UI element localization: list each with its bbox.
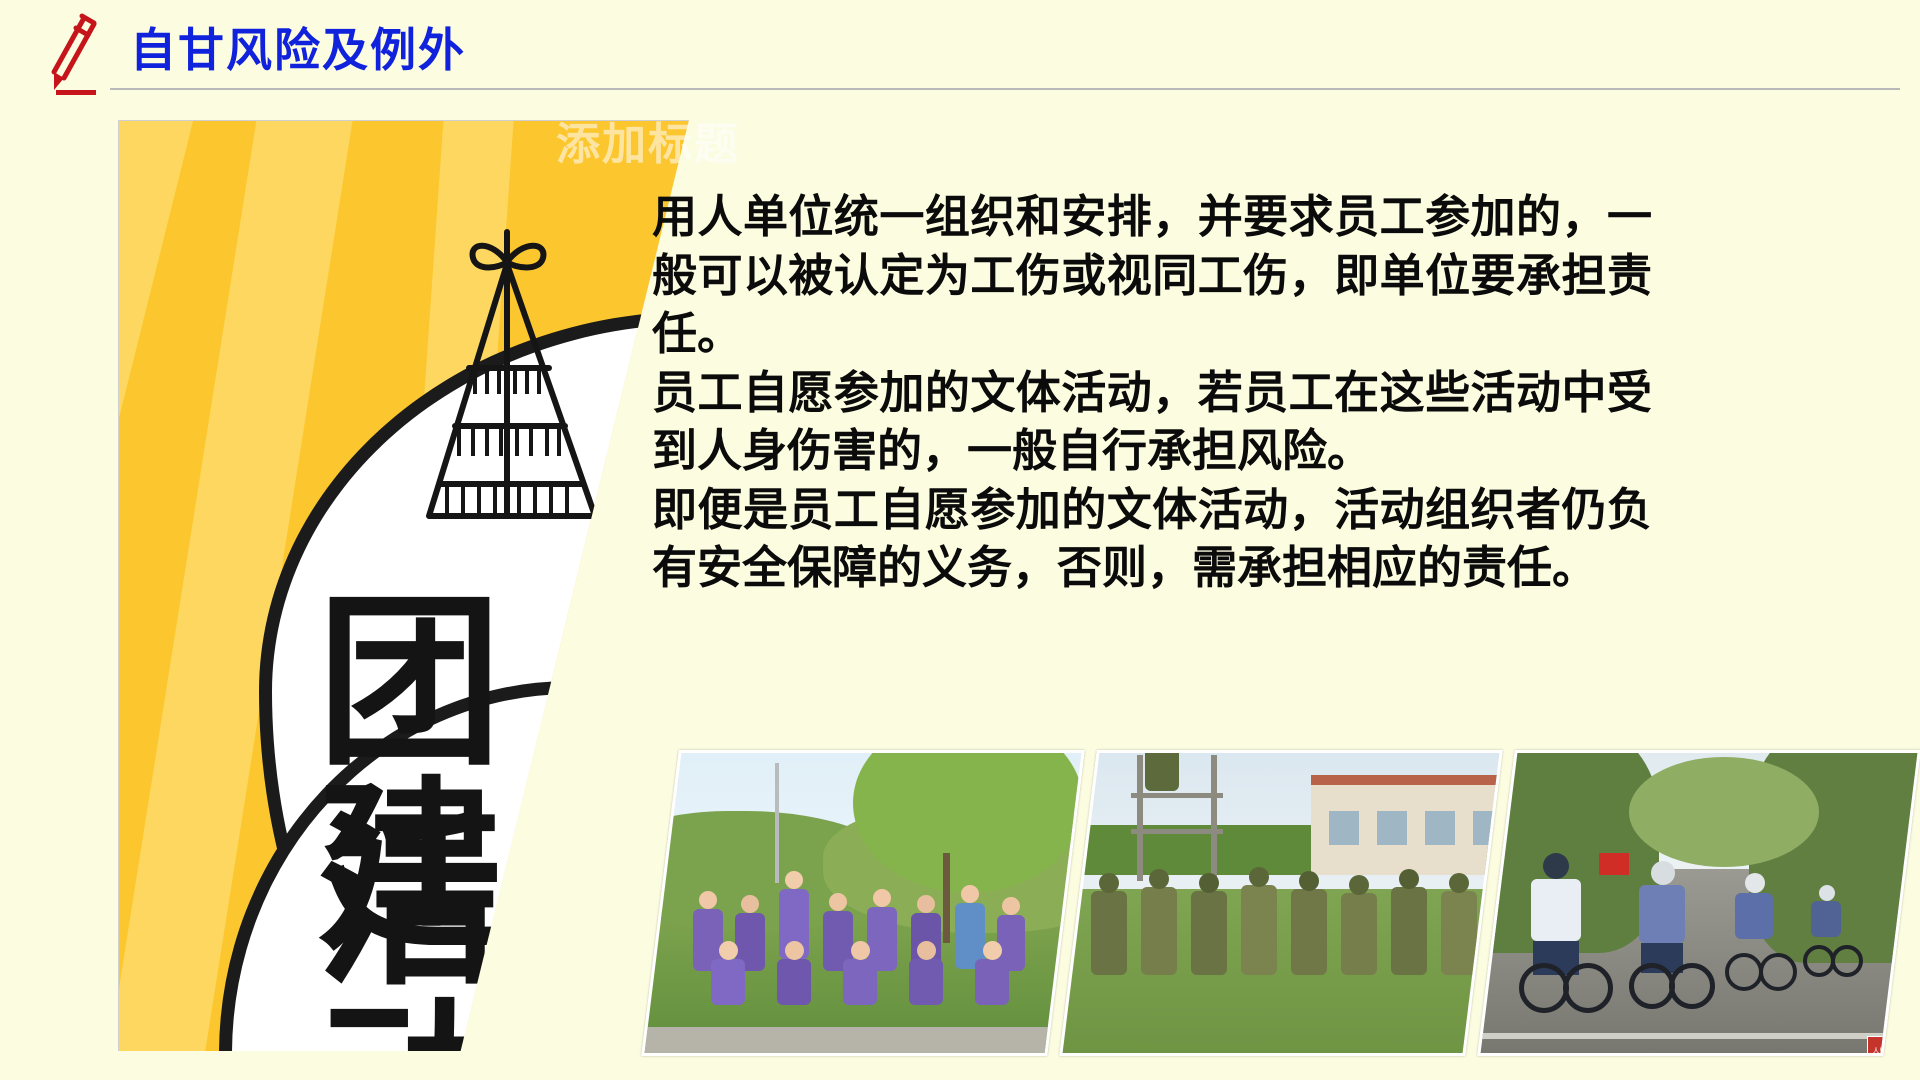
cyclist: [1799, 885, 1859, 971]
cyclist-body: [1639, 885, 1685, 943]
copyright-stamp: 人民日报社: [1867, 1036, 1913, 1056]
body-text-block: 用人单位统一组织和安排，并要求员工参加的，一般可以被认定为工伤或视同工伤，即单位…: [652, 188, 1652, 598]
cyclist: [1621, 861, 1721, 1001]
scaffold-rail: [1131, 793, 1223, 798]
soldier-row: [1091, 873, 1503, 983]
person-head: [785, 871, 803, 889]
tent-icon: [399, 216, 619, 546]
photo-content: [643, 750, 1083, 1056]
body-paragraph: 员工自愿参加的文体活动，若员工在这些活动中受到人身伤害的，一般自行承担风险。: [652, 364, 1652, 481]
person-head: [699, 891, 717, 909]
photo-military-training: [1059, 750, 1503, 1056]
slide-root: 自甘风险及例外 团建: [0, 0, 1920, 1080]
wheel: [1669, 963, 1715, 1009]
flag: [1599, 853, 1629, 875]
soldier: [1191, 891, 1227, 975]
soldier-head: [1099, 873, 1119, 893]
scaffold-rail: [1131, 829, 1223, 834]
scaffold-post: [1211, 755, 1217, 881]
person-head: [873, 889, 891, 907]
page-title: 自甘风险及例外: [130, 14, 466, 80]
window: [1329, 811, 1359, 845]
cyclist-body: [1531, 879, 1581, 941]
photo-cycling-group: 人民日报社: [1477, 750, 1920, 1056]
person-head: [961, 885, 979, 903]
soldier-head: [1149, 869, 1169, 889]
person-head: [829, 893, 847, 911]
window: [1377, 811, 1407, 845]
person: [777, 959, 811, 1005]
soldier-head: [1299, 871, 1319, 891]
photo-team-outdoor: [641, 750, 1085, 1056]
title-divider: [110, 88, 1900, 90]
pole: [775, 763, 779, 883]
poster-word-line2: 活动: [317, 811, 689, 1051]
person-head: [983, 941, 1002, 960]
wheel: [1563, 963, 1613, 1013]
soldier-head: [1349, 875, 1369, 895]
soldier-head: [1199, 873, 1219, 893]
cyclist-body: [1735, 893, 1773, 939]
body-paragraph: 即便是员工自愿参加的文体活动，活动组织者仍负有安全保障的义务，否则，需承担相应的…: [652, 481, 1652, 598]
soldier: [1291, 889, 1327, 975]
wheel: [1759, 953, 1797, 991]
placeholder-title-watermark: 添加标题: [556, 108, 740, 172]
slide-header: 自甘风险及例外: [0, 0, 1920, 104]
soldier: [1241, 885, 1277, 975]
body-paragraph: 用人单位统一组织和安排，并要求员工参加的，一般可以被认定为工伤或视同工伤，即单位…: [652, 188, 1652, 364]
person-head: [719, 941, 738, 960]
person-head: [1002, 897, 1020, 915]
lead-cyclist: [1509, 853, 1619, 1003]
soldier: [1091, 891, 1127, 975]
soldier: [1141, 887, 1177, 975]
photo-content: 人民日报社: [1479, 750, 1919, 1056]
person-head: [917, 941, 936, 960]
window: [1425, 811, 1455, 845]
soldier: [1341, 893, 1377, 975]
soldier-head: [1449, 873, 1469, 893]
helmet: [1819, 885, 1835, 901]
helmet: [1543, 853, 1569, 879]
person-on-platform: [1145, 750, 1179, 791]
window: [1473, 811, 1503, 845]
scaffold-post: [1137, 755, 1143, 881]
person-head: [741, 895, 759, 913]
cyclist-body: [1811, 901, 1841, 937]
wheel: [1831, 945, 1863, 977]
helmet: [1651, 861, 1675, 885]
team-building-poster: 团建 活动: [118, 120, 689, 1051]
soldier: [1391, 887, 1427, 975]
tree-canopy: [1629, 757, 1819, 867]
person-head: [851, 941, 870, 960]
person: [975, 959, 1009, 1005]
pencil-icon: [38, 12, 106, 96]
person-head: [917, 895, 935, 913]
person-head: [785, 941, 804, 960]
cyclist: [1719, 873, 1799, 983]
helmet: [1745, 873, 1765, 893]
road-line: [1477, 1033, 1920, 1039]
building: [1311, 775, 1503, 875]
photo-content: [1061, 750, 1501, 1056]
wheel: [1725, 953, 1763, 991]
people-group-front: [691, 945, 1031, 1005]
soldier-head: [1399, 869, 1419, 889]
soldier-head: [1249, 867, 1269, 887]
wheel: [1519, 963, 1569, 1013]
person: [843, 959, 877, 1005]
person: [909, 959, 943, 1005]
stamp-text: 人民日报社: [1873, 1048, 1908, 1055]
soldier: [1441, 891, 1477, 975]
pavement: [641, 1027, 1085, 1056]
person: [711, 959, 745, 1005]
